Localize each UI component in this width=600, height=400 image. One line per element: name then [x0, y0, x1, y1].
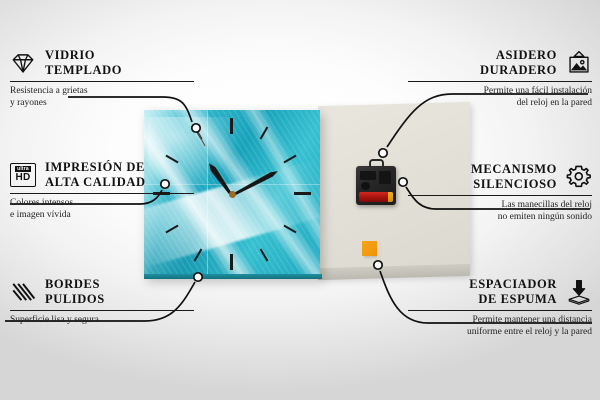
gear-icon	[566, 164, 592, 190]
clock-tick-2	[283, 155, 296, 164]
clock-tick-4	[283, 225, 296, 234]
feature-impresion-alta-calidad[interactable]: ultra HD IMPRESIÓN DE ALTA CALIDAD Color…	[10, 160, 194, 221]
feature-title: MECANISMO SILENCIOSO	[471, 162, 557, 191]
foam-spacer-shadow	[377, 243, 382, 258]
feature-header: BORDES PULIDOS	[10, 277, 194, 306]
arrow-onto-layers-icon	[566, 279, 592, 305]
feature-rule	[10, 81, 194, 82]
feature-rule	[408, 310, 592, 311]
feature-title: IMPRESIÓN DE ALTA CALIDAD	[45, 160, 146, 189]
connector-dot-espaciador	[374, 261, 382, 269]
feature-espaciador-de-espuma[interactable]: ESPACIADOR DE ESPUMA Permite mantener un…	[408, 277, 592, 338]
feature-header: ultra HD IMPRESIÓN DE ALTA CALIDAD	[10, 160, 194, 189]
infographic-stage: VIDRIO TEMPLADO Resistencia a grietas y …	[0, 0, 600, 400]
feature-subtitle: Resistencia a grietas y rayones	[10, 86, 194, 109]
foam-spacer	[362, 241, 377, 256]
clock-tick-6	[230, 254, 233, 270]
feature-header: ASIDERO DURADERO	[408, 48, 592, 77]
diamond-icon	[10, 50, 36, 76]
clock-minute-hand	[231, 169, 279, 198]
connector-leader-vidrio-templado	[198, 133, 205, 146]
feature-subtitle: Superficie lisa y segura	[10, 315, 194, 327]
mechanism-detail	[379, 171, 391, 184]
diagonal-lines-icon	[10, 279, 36, 305]
battery	[359, 192, 393, 202]
feature-mecanismo-silencioso[interactable]: MECANISMO SILENCIOSO Las manecillas del …	[408, 162, 592, 223]
clock-hour-hand	[207, 162, 235, 198]
hanging-frame-icon	[566, 50, 592, 76]
clock-tick-12	[230, 118, 233, 134]
feature-asidero-duradero[interactable]: ASIDERO DURADERO Permite una fácil insta…	[408, 48, 592, 109]
clock-mechanism	[356, 166, 396, 205]
clock-tick-11	[194, 126, 203, 139]
hanger-loop	[369, 159, 384, 167]
ultra-hd-badge-icon: ultra HD	[10, 163, 36, 187]
feature-rule	[10, 193, 194, 194]
clock-tick-1	[260, 126, 269, 139]
feature-rule	[10, 310, 194, 311]
connector-dot-mecanismo	[399, 178, 407, 186]
clock-center-cap	[229, 191, 236, 198]
feature-rule	[408, 81, 592, 82]
hd-badge-bottom-text: HD	[15, 173, 30, 183]
clock-tick-8	[165, 225, 178, 234]
clock-tick-5	[260, 248, 269, 261]
battery-terminal	[388, 192, 393, 202]
feature-title: BORDES PULIDOS	[45, 277, 105, 306]
feature-header: MECANISMO SILENCIOSO	[408, 162, 592, 191]
feature-vidrio-templado[interactable]: VIDRIO TEMPLADO Resistencia a grietas y …	[10, 48, 194, 109]
feature-header: ESPACIADOR DE ESPUMA	[408, 277, 592, 306]
feature-title: ESPACIADOR DE ESPUMA	[469, 277, 557, 306]
mechanism-shaft	[361, 182, 370, 190]
feature-subtitle: Colores intensos e imagen vívida	[10, 198, 194, 221]
connector-dot-bordes-pulidos	[194, 273, 202, 281]
feature-subtitle: Permite una fácil instalación del reloj …	[408, 86, 592, 109]
connector-dot-vidrio-templado	[192, 124, 200, 132]
connector-dot-asidero	[379, 149, 387, 157]
feature-title: ASIDERO DURADERO	[480, 48, 557, 77]
feature-subtitle: Permite mantener una distancia uniforme …	[408, 315, 592, 338]
feature-bordes-pulidos[interactable]: BORDES PULIDOS Superficie lisa y segura	[10, 277, 194, 327]
mechanism-detail	[360, 171, 376, 180]
clock-tick-3	[294, 192, 311, 195]
feature-header: VIDRIO TEMPLADO	[10, 48, 194, 77]
clock-tick-7	[194, 248, 203, 261]
feature-title: VIDRIO TEMPLADO	[45, 48, 122, 77]
feature-rule	[408, 195, 592, 196]
feature-subtitle: Las manecillas del reloj no emiten ningú…	[408, 200, 592, 223]
